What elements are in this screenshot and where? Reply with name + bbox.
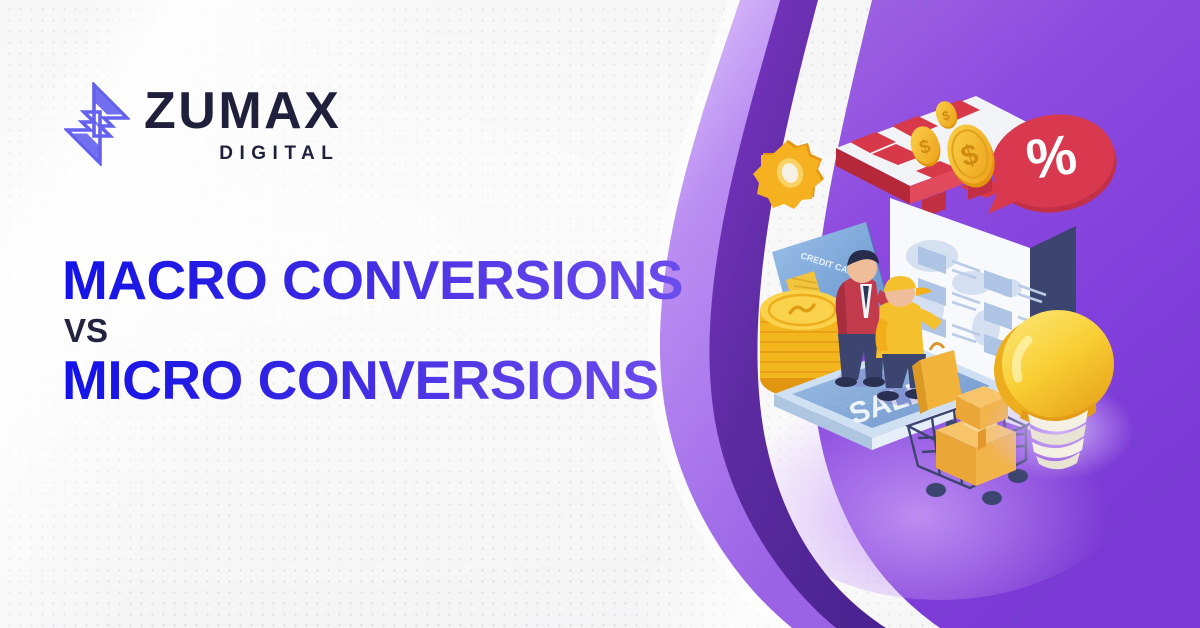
conversion-banner: ZUMAX DIGITAL MACRO CONVERSIONS VS MICRO…	[0, 0, 1200, 628]
headline-block: MACRO CONVERSIONS VS MICRO CONVERSIONS	[62, 252, 683, 408]
brand-name: ZUMAX	[144, 85, 341, 137]
gear-icon	[753, 140, 824, 209]
ecommerce-illustration: % $ $ $ CREDIT	[740, 78, 1160, 528]
zumax-lightning-z-icon	[64, 82, 130, 166]
headline-line-1: MACRO CONVERSIONS	[62, 252, 683, 308]
brand-logo[interactable]: ZUMAX DIGITAL	[64, 82, 341, 166]
brand-tagline: DIGITAL	[219, 144, 339, 163]
headline-separator: VS	[64, 310, 683, 351]
discount-percent-label: %	[1022, 122, 1080, 191]
headline-line-2: MICRO CONVERSIONS	[62, 352, 683, 408]
